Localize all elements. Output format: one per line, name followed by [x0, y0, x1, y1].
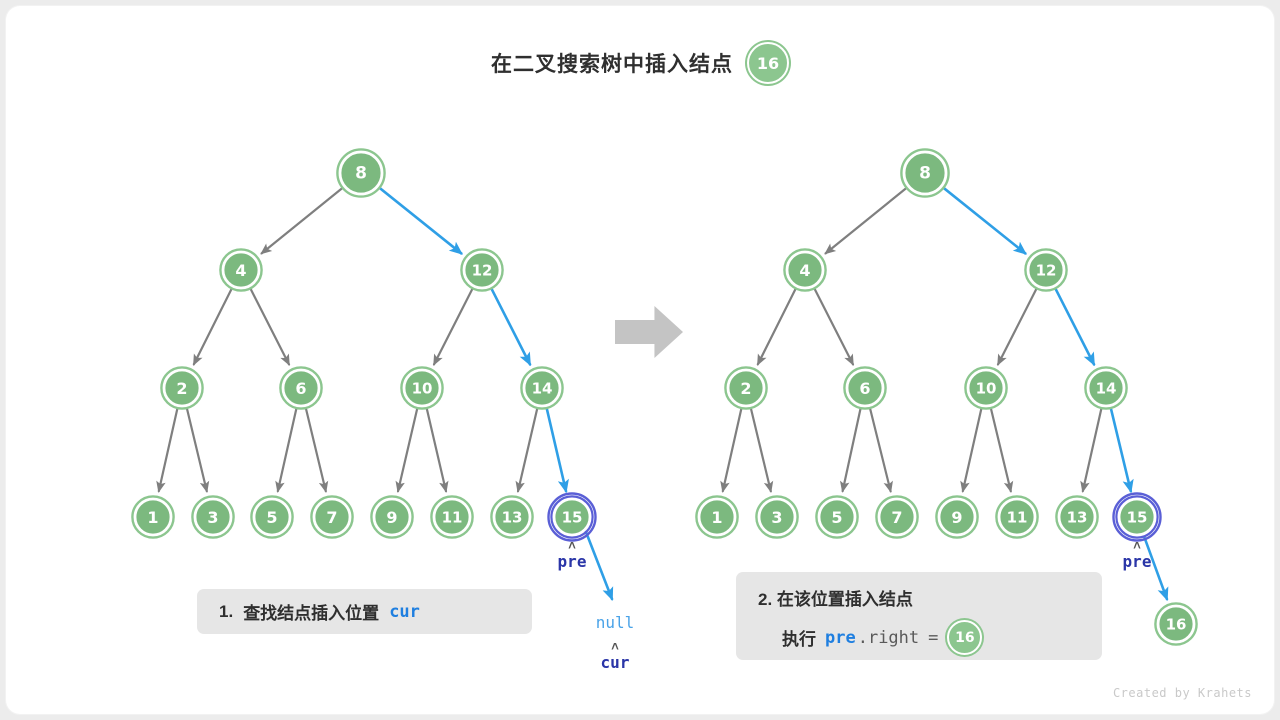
tree-node-5[interactable]: 5 [251, 496, 292, 537]
step-1-text: 查找结点插入位置 [243, 599, 379, 624]
tree-node-16[interactable]: 16 [1155, 603, 1196, 644]
step-2-exec-label: 执行 [782, 625, 816, 650]
edge-10-to-9 [398, 409, 417, 491]
node-label-6: 6 [295, 379, 306, 398]
step-1-index: 1. [219, 602, 233, 622]
node-label-11: 11 [442, 509, 463, 527]
tree-node-4[interactable]: 4 [784, 249, 825, 290]
tree-node-7[interactable]: 7 [311, 496, 352, 537]
node-label-12: 12 [472, 262, 493, 280]
tree-node-13[interactable]: 13 [491, 496, 532, 537]
tree-node-8[interactable]: 8 [337, 149, 384, 196]
node-label-11: 11 [1007, 509, 1028, 527]
node-label-3: 3 [771, 508, 782, 527]
edge-4-to-6 [251, 289, 289, 364]
edge-14-to-15 [547, 409, 566, 491]
step-1-code-cur: cur [389, 602, 420, 622]
node-label-10: 10 [976, 380, 997, 398]
node-label-4: 4 [799, 261, 810, 280]
node-label-1: 1 [711, 508, 722, 527]
tree-node-15[interactable]: 15 [549, 494, 596, 541]
tree-node-15[interactable]: 15 [1114, 494, 1161, 541]
node-label-15: 15 [562, 509, 583, 527]
edge-2-to-3 [751, 409, 771, 491]
tree-node-3[interactable]: 3 [192, 496, 233, 537]
node-label-14: 14 [532, 380, 553, 398]
node-label-15: 15 [1127, 509, 1148, 527]
tree-node-6[interactable]: 6 [280, 367, 321, 408]
tree-node-5[interactable]: 5 [816, 496, 857, 537]
edge-8-to-4 [262, 188, 342, 253]
tree-node-7[interactable]: 7 [876, 496, 917, 537]
tree-node-13[interactable]: 13 [1056, 496, 1097, 537]
tree-node-11[interactable]: 11 [431, 496, 472, 537]
node-label-13: 13 [1067, 509, 1088, 527]
step-2-equals: = [928, 628, 938, 648]
tree-node-2[interactable]: 2 [161, 367, 202, 408]
edge-12-to-10 [434, 289, 472, 364]
node-label-3: 3 [207, 508, 218, 527]
edge-10-to-11 [427, 409, 446, 491]
page-title: 在二叉搜索树中插入结点 16 [6, 42, 1274, 84]
node-label-13: 13 [502, 509, 523, 527]
tree-node-12[interactable]: 12 [461, 249, 502, 290]
caret-icon: ˄ [1097, 542, 1177, 552]
step-2-badge-16: 16 [947, 620, 982, 655]
edge-14-to-15 [1111, 409, 1131, 491]
step-2-right-field: .right [858, 628, 919, 648]
edge-4-to-2 [758, 289, 796, 364]
edge-12-to-14 [1056, 289, 1094, 364]
tree-node-9[interactable]: 9 [936, 496, 977, 537]
credit-text: Created by Krahets [1113, 686, 1252, 700]
edge-12-to-14 [492, 289, 530, 364]
node-label-9: 9 [386, 508, 397, 527]
null-label-before-insert: null [575, 613, 655, 632]
pointer-label: pre [558, 552, 587, 571]
node-label-8: 8 [919, 164, 931, 184]
tree-node-1[interactable]: 1 [132, 496, 173, 537]
caret-icon: ˄ [575, 643, 655, 653]
node-label-5: 5 [831, 508, 842, 527]
edge-6-to-7 [306, 409, 326, 491]
diagram-card: 8412261014135791113158412261014135791113… [6, 6, 1274, 714]
pointer-label: cur [601, 653, 630, 672]
edge-4-to-6 [815, 289, 853, 364]
node-label-12: 12 [1036, 262, 1057, 280]
title-badge-16: 16 [747, 42, 789, 84]
pointer-pre-before-insert: ˄pre [532, 542, 612, 571]
tree-node-10[interactable]: 10 [401, 367, 442, 408]
tree-node-14[interactable]: 14 [521, 367, 562, 408]
step-2-text: 在该位置插入结点 [777, 590, 913, 609]
tree-node-10[interactable]: 10 [965, 367, 1006, 408]
node-label-2: 2 [740, 379, 751, 398]
tree-node-3[interactable]: 3 [756, 496, 797, 537]
edge-8-to-12 [944, 188, 1025, 253]
edge-2-to-3 [187, 409, 207, 491]
edge-6-to-7 [870, 409, 890, 491]
node-label-7: 7 [891, 508, 902, 527]
edge-10-to-9 [963, 409, 981, 491]
node-label-2: 2 [176, 379, 187, 398]
edge-6-to-5 [843, 409, 861, 491]
node-label-7: 7 [326, 508, 337, 527]
node-label-14: 14 [1096, 380, 1117, 398]
edge-8-to-4 [826, 188, 906, 253]
edge-8-to-12 [380, 188, 461, 253]
node-label-9: 9 [951, 508, 962, 527]
edge-6-to-5 [278, 409, 296, 491]
pointer-label: pre [1123, 552, 1152, 571]
node-label-4: 4 [235, 261, 246, 280]
tree-node-6[interactable]: 6 [844, 367, 885, 408]
tree-node-9[interactable]: 9 [371, 496, 412, 537]
node-label-8: 8 [355, 164, 367, 184]
node-label-6: 6 [859, 379, 870, 398]
edge-2-to-1 [159, 409, 177, 491]
tree-node-4[interactable]: 4 [220, 249, 261, 290]
tree-node-8[interactable]: 8 [901, 149, 948, 196]
pointer-cur-before-insert: ˄cur [575, 643, 655, 672]
transition-arrow [615, 306, 683, 358]
edge-14-to-13 [518, 409, 537, 491]
tree-node-14[interactable]: 14 [1085, 367, 1126, 408]
title-text: 在二叉搜索树中插入结点 [491, 48, 733, 78]
edge-10-to-11 [991, 409, 1011, 491]
edge-2-to-1 [723, 409, 741, 491]
pointer-pre-after-insert: ˄pre [1097, 542, 1177, 571]
node-label-1: 1 [147, 508, 158, 527]
step-2-expression: 执行 pre .right = 16 [758, 620, 1102, 655]
step-2-pre: pre [825, 628, 856, 648]
node-label-10: 10 [412, 380, 433, 398]
step-1-box: 1. 查找结点插入位置 cur [197, 589, 532, 634]
edge-12-to-10 [998, 289, 1036, 364]
tree-node-12[interactable]: 12 [1025, 249, 1066, 290]
node-label-16: 16 [1166, 616, 1187, 634]
step-2-index: 2. [758, 590, 772, 609]
edge-4-to-2 [194, 289, 232, 364]
diagram-stage: 8412261014135791113158412261014135791113… [6, 6, 1274, 714]
tree-node-1[interactable]: 1 [696, 496, 737, 537]
step-2-headline: 2. 在该位置插入结点 [758, 585, 1102, 610]
node-label-5: 5 [266, 508, 277, 527]
step-2-box: 2. 在该位置插入结点 执行 pre .right = 16 [736, 572, 1102, 660]
tree-node-11[interactable]: 11 [996, 496, 1037, 537]
tree-node-2[interactable]: 2 [725, 367, 766, 408]
caret-icon: ˄ [532, 542, 612, 552]
edge-14-to-13 [1083, 409, 1101, 491]
